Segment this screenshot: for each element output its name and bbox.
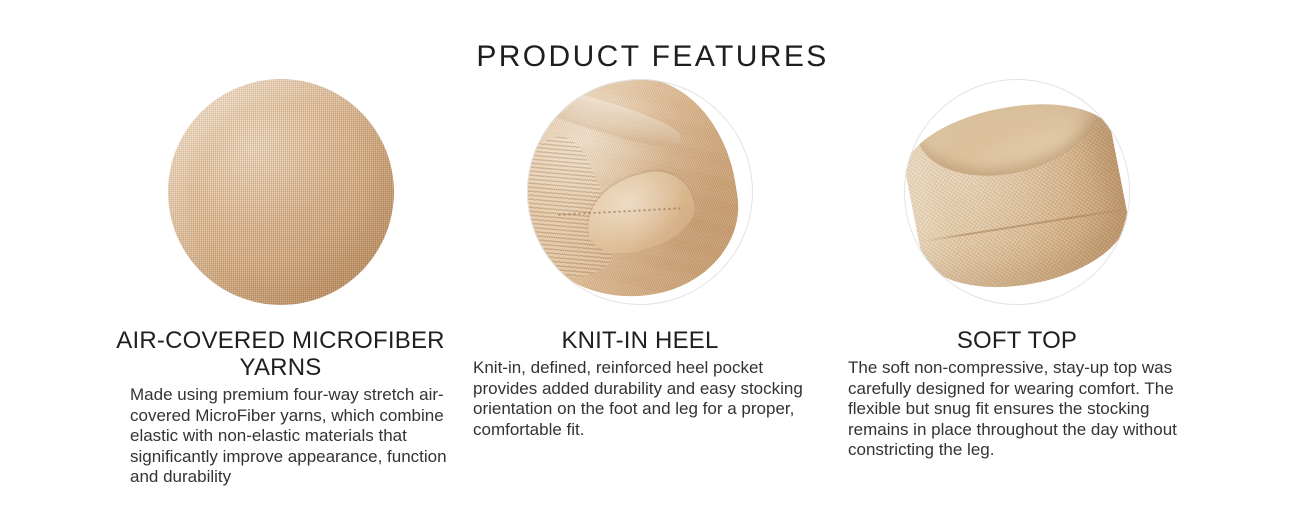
feature-card-knit-in-heel: KNIT-IN HEEL Knit-in, defined, reinforce… <box>470 79 810 440</box>
feature-body: Made using premium four-way stretch air-… <box>108 385 453 488</box>
soft-top-media <box>904 79 1130 305</box>
circle-clip <box>168 79 394 305</box>
feature-heading: AIR-COVERED MICROFIBER YARNS <box>108 327 453 381</box>
feature-heading: KNIT-IN HEEL <box>470 327 810 354</box>
feature-body: The soft non-compressive, stay-up top wa… <box>843 358 1191 461</box>
product-features-row: AIR-COVERED MICROFIBER YARNS Made using … <box>0 79 1305 519</box>
circle-outline <box>904 79 1130 305</box>
air-covered-microfiber-yarns-swatch-image <box>168 79 394 305</box>
knit-in-heel-media <box>527 79 753 305</box>
feature-body: Knit-in, defined, reinforced heel pocket… <box>470 358 810 440</box>
feature-card-soft-top: SOFT TOP The soft non-compressive, stay-… <box>843 79 1191 461</box>
air-covered-microfiber-yarns-media <box>168 79 394 305</box>
feature-heading: SOFT TOP <box>843 327 1191 354</box>
page-title: PRODUCT FEATURES <box>0 38 1305 76</box>
circle-outline <box>527 79 753 305</box>
feature-card-air-covered-microfiber-yarns: AIR-COVERED MICROFIBER YARNS Made using … <box>108 79 453 488</box>
